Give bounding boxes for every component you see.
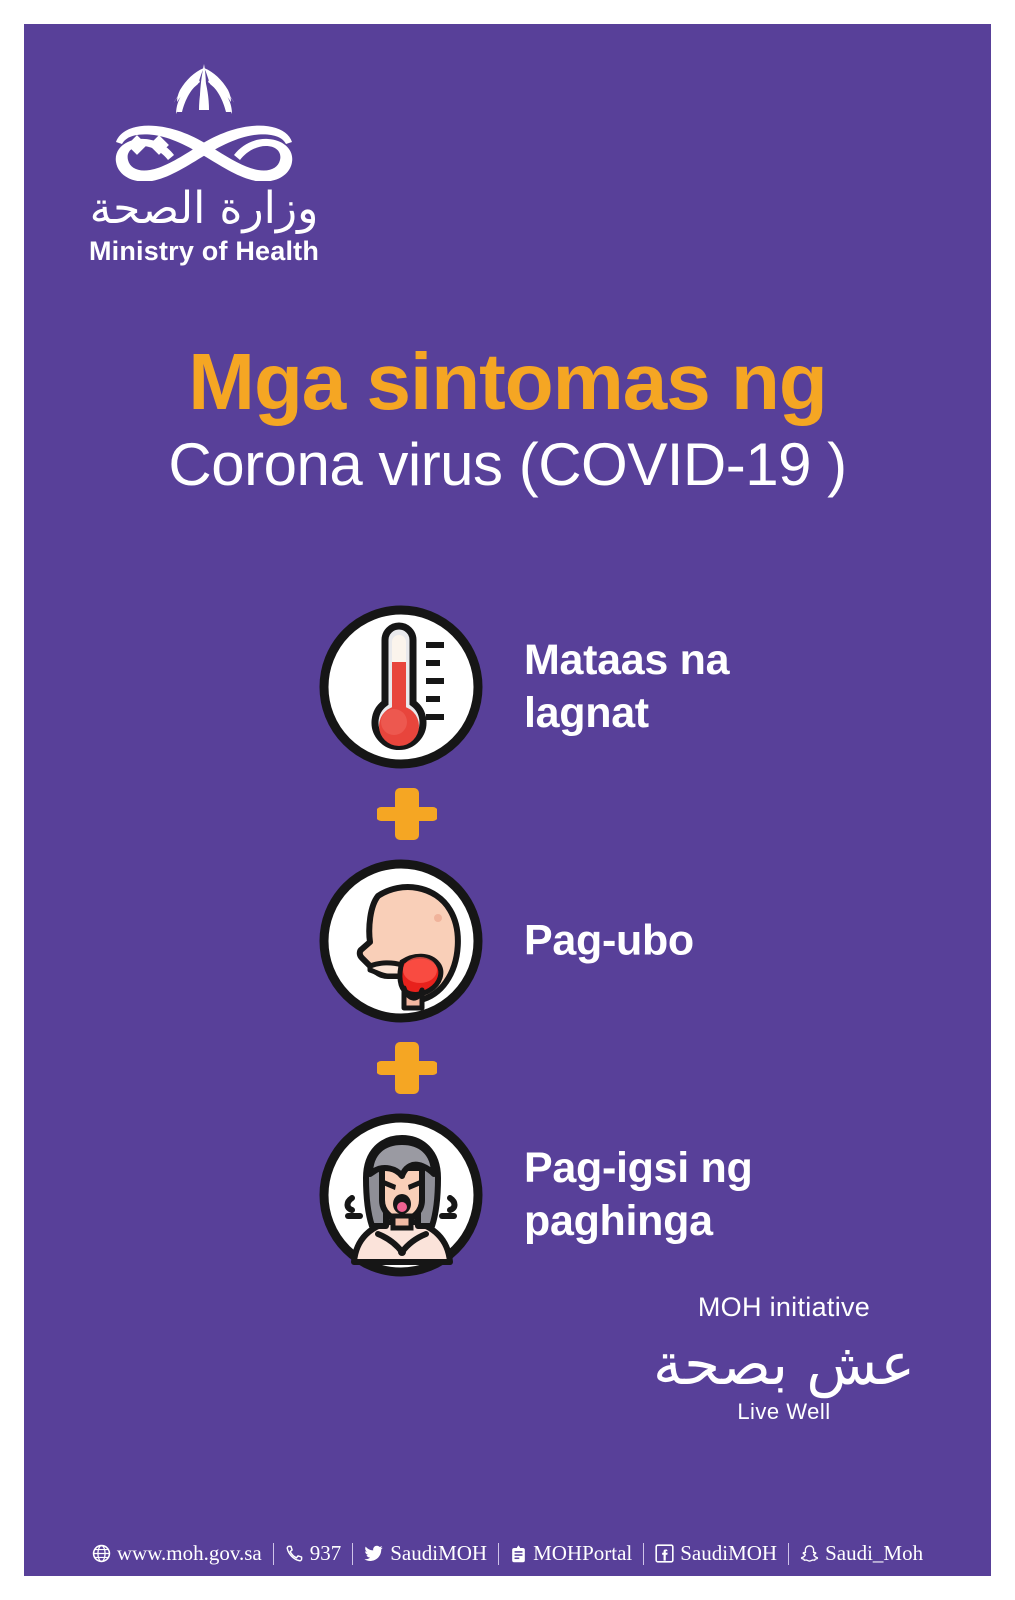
thermometer-icon (318, 604, 484, 770)
symptom-label-fever-line1: Mataas na (524, 634, 954, 687)
footer-item-website[interactable]: www.moh.gov.sa (81, 1541, 273, 1566)
footer-item-snapchat[interactable]: Saudi_Moh (789, 1541, 934, 1566)
symptom-label-cough: Pag-ubo (524, 915, 954, 968)
title-subtitle: Corona virus (COVID-19 ) (24, 429, 991, 501)
symptom-label-breath: Pag-igsi ng paghinga (524, 1142, 954, 1248)
footer-contact-bar: www.moh.gov.sa 937 SaudiMOH (24, 1541, 991, 1566)
moh-logo-english: Ministry of Health (59, 236, 349, 267)
phone-icon (285, 1544, 304, 1563)
plus-sign-icon (377, 784, 437, 844)
symptom-row-cough: Pag-ubo (24, 858, 991, 1024)
separator-row-1 (24, 770, 991, 858)
footer-item-app[interactable]: MOHPortal (499, 1541, 643, 1566)
symptom-label-breath-line2: paghinga (524, 1195, 954, 1248)
snapchat-icon (800, 1544, 819, 1563)
symptom-row-fever: Mataas na lagnat (24, 604, 991, 770)
symptom-label-fever: Mataas na lagnat (524, 634, 954, 740)
footer-text-facebook: SaudiMOH (680, 1541, 777, 1566)
live-well-logo-arabic: عش بصحة (619, 1329, 949, 1399)
separator-row-2 (24, 1024, 991, 1112)
facebook-icon (655, 1544, 674, 1563)
moh-logo: وزارة الصحة Ministry of Health (59, 56, 349, 267)
sore-throat-head-icon (318, 858, 484, 1024)
globe-icon (92, 1544, 111, 1563)
footer-text-phone: 937 (310, 1541, 342, 1566)
symptom-label-cough-line1: Pag-ubo (524, 915, 954, 968)
app-icon (510, 1544, 527, 1563)
live-well-logo-english: Live Well (619, 1399, 949, 1425)
footer-text-twitter: SaudiMOH (390, 1541, 487, 1566)
saudi-moh-palm-swords-emblem-icon (94, 56, 314, 181)
moh-initiative-block: MOH initiative عش بصحة Live Well (619, 1292, 949, 1425)
footer-item-phone[interactable]: 937 (274, 1541, 353, 1566)
symptom-list: Mataas na lagnat (24, 604, 991, 1278)
initiative-label: MOH initiative (619, 1292, 949, 1323)
shortness-of-breath-icon (318, 1112, 484, 1278)
title-main: Mga sintomas ng (24, 339, 991, 425)
footer-item-twitter[interactable]: SaudiMOH (353, 1541, 498, 1566)
symptom-row-breath: Pag-igsi ng paghinga (24, 1112, 991, 1278)
poster-title: Mga sintomas ng Corona virus (COVID-19 ) (24, 339, 991, 501)
symptom-label-fever-line2: lagnat (524, 687, 954, 740)
moh-logo-arabic: وزارة الصحة (59, 183, 349, 235)
footer-text-snapchat: Saudi_Moh (825, 1541, 923, 1566)
poster-canvas: وزارة الصحة Ministry of Health Mga sinto… (24, 24, 991, 1576)
symptom-label-breath-line1: Pag-igsi ng (524, 1142, 954, 1195)
footer-text-app: MOHPortal (533, 1541, 632, 1566)
footer-text-website: www.moh.gov.sa (117, 1541, 262, 1566)
plus-sign-icon (377, 1038, 437, 1098)
footer-item-facebook[interactable]: SaudiMOH (644, 1541, 788, 1566)
twitter-icon (364, 1544, 384, 1563)
